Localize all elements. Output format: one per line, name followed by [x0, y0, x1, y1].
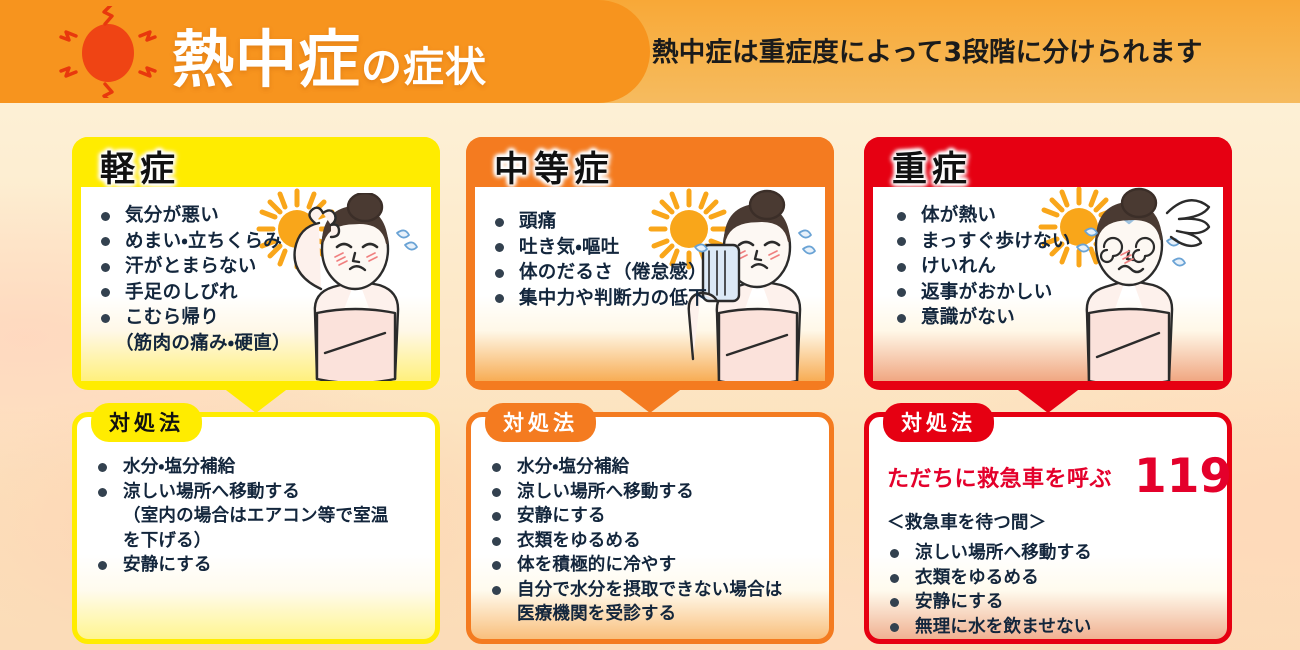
severity-title-severe: 重症 — [892, 141, 972, 192]
bullet-dot — [897, 288, 906, 297]
bullet-dot — [492, 512, 501, 521]
page-title-main: 熱中症 — [172, 23, 361, 96]
bullet-dot — [890, 549, 899, 558]
bullet-dot — [492, 537, 501, 546]
symptom-text: 体が熱い — [921, 205, 996, 226]
remedy-list-mild: 水分・塩分補給 涼しい場所へ移動する （室内の場合はエアコン等で室温 を下げる）… — [95, 455, 427, 578]
remedy-list-moderate: 水分・塩分補給 涼しい場所へ移動する 安静にする 衣類をゆるめる 体を積極的に冷… — [489, 455, 821, 627]
list-item: 涼しい場所へ移動する — [887, 541, 1219, 566]
symptom-text: こむら帰り — [125, 307, 219, 328]
list-item: 安静にする — [489, 504, 821, 529]
bullet-dot — [492, 488, 501, 497]
list-item: 衣類をゆるめる — [489, 529, 821, 554]
bullet-dot — [492, 463, 501, 472]
list-item: 安静にする — [95, 553, 427, 578]
list-item: 手足のしびれ — [99, 280, 291, 306]
severity-title-moderate: 中等症 — [494, 141, 614, 192]
emergency-call-text: ただちに救急車を呼ぶ — [887, 461, 1112, 493]
list-item: （筋肉の痛み・硬直） — [99, 331, 291, 357]
list-item: 気分が悪い — [99, 203, 291, 229]
bullet-dot — [98, 463, 107, 472]
symptom-text: 吐き気・嘔吐 — [519, 237, 620, 258]
bullet-dot — [890, 574, 899, 583]
symptom-text: 返事がおかしい — [921, 282, 1053, 303]
symptom-card-moderate: 中等症 — [466, 137, 834, 390]
remedy-label-moderate: 対処法 — [485, 403, 596, 442]
bullet-dot — [495, 269, 504, 278]
connector-arrow-icon — [222, 387, 290, 413]
connector-arrow-icon — [616, 387, 684, 413]
list-item: 水分・塩分補給 — [489, 455, 821, 480]
list-item: 頭痛 — [493, 209, 707, 235]
remedy-text: 体を積極的に冷やす — [517, 555, 676, 575]
list-item: 集中力や判断力の低下 — [493, 286, 707, 312]
list-item: 汗がとまらない — [99, 254, 291, 280]
remedy-text: 涼しい場所へ移動する — [517, 482, 694, 502]
hot-sun-icon — [48, 6, 168, 98]
list-item: けいれん — [895, 254, 1071, 280]
remedy-list-severe: 涼しい場所へ移動する 衣類をゆるめる 安静にする 無理に水を飲ませない — [887, 541, 1219, 639]
remedy-text: 無理に水を飲ませない — [915, 617, 1091, 637]
list-item: 自分で水分を摂取できない場合は — [489, 578, 821, 603]
emergency-number: 119 — [1134, 453, 1232, 500]
page-title-sub: の症状 — [361, 43, 487, 91]
symptom-text: 体のだるさ（倦怠感） — [519, 262, 707, 283]
list-item: （室内の場合はエアコン等で室温 — [95, 504, 427, 529]
column-mild: 軽症 — [72, 137, 440, 644]
list-item: こむら帰り — [99, 305, 291, 331]
remedy-text: 涼しい場所へ移動する — [915, 543, 1092, 563]
list-item: めまい・立ちくらみ — [99, 229, 291, 255]
header-subtitle: 熱中症は重症度によって3段階に分けられます — [652, 30, 1203, 69]
remedy-text: 涼しい場所へ移動する — [123, 482, 300, 502]
severity-title-mild: 軽症 — [100, 141, 180, 192]
symptom-text: 意識がない — [921, 307, 1015, 328]
bullet-dot — [98, 561, 107, 570]
remedy-text: 水分・塩分補給 — [123, 457, 235, 477]
list-item: 体のだるさ（倦怠感） — [493, 260, 707, 286]
remedy-text: 安静にする — [517, 506, 606, 526]
list-item: 医療機関を受診する — [489, 602, 821, 627]
remedy-text: 自分で水分を摂取できない場合は — [517, 580, 783, 600]
bullet-dot — [101, 212, 110, 221]
column-moderate: 中等症 — [466, 137, 834, 644]
symptom-panel: 気分が悪い めまい・立ちくらみ 汗がとまらない 手足のしびれ こむら帰り （筋肉… — [81, 187, 431, 381]
remedy-text: 水分・塩分補給 — [517, 457, 629, 477]
bullet-dot — [495, 294, 504, 303]
symptom-list-mild: 気分が悪い めまい・立ちくらみ 汗がとまらない 手足のしびれ こむら帰り （筋肉… — [99, 203, 291, 356]
list-item: 返事がおかしい — [895, 280, 1071, 306]
symptom-panel: 体が熱い まっすぐ歩けない けいれん 返事がおかしい 意識がない — [873, 187, 1223, 381]
list-item: 体が熱い — [895, 203, 1071, 229]
symptom-text: 気分が悪い — [125, 205, 219, 226]
symptom-text: まっすぐ歩けない — [921, 231, 1071, 252]
remedy-text: 安静にする — [123, 555, 212, 575]
emergency-subheading: ＜救急車を待つ間＞ — [887, 509, 1046, 534]
emergency-heading: ただちに救急車を呼ぶ 119 — [887, 453, 1217, 500]
bullet-dot — [492, 586, 501, 595]
symptom-text: 頭痛 — [519, 211, 557, 232]
bullet-dot — [897, 237, 906, 246]
remedy-text: 安静にする — [915, 592, 1004, 612]
symptom-text: 集中力や判断力の低下 — [519, 288, 707, 309]
bullet-dot — [495, 218, 504, 227]
list-item: 吐き気・嘔吐 — [493, 235, 707, 261]
bullet-dot — [890, 623, 899, 632]
symptom-text: 汗がとまらない — [125, 256, 257, 277]
remedy-card-mild: 対処法 水分・塩分補給 涼しい場所へ移動する （室内の場合はエアコン等で室温 を… — [72, 412, 440, 644]
bullet-dot — [495, 243, 504, 252]
remedy-text: （室内の場合はエアコン等で室温 — [123, 506, 389, 526]
remedy-label-mild: 対処法 — [91, 403, 202, 442]
bullet-dot — [897, 212, 906, 221]
header-bar: 熱中症の症状 熱中症は重症度によって3段階に分けられます — [0, 0, 1300, 103]
page-title: 熱中症の症状 — [172, 9, 487, 99]
bullet-dot — [897, 263, 906, 272]
infographic-page: 熱中症の症状 熱中症は重症度によって3段階に分けられます 軽症 — [0, 0, 1300, 650]
symptom-list-moderate: 頭痛 吐き気・嘔吐 体のだるさ（倦怠感） 集中力や判断力の低下 — [493, 209, 707, 311]
list-item: まっすぐ歩けない — [895, 229, 1071, 255]
list-item: 安静にする — [887, 590, 1219, 615]
list-item: 水分・塩分補給 — [95, 455, 427, 480]
bullet-dot — [897, 314, 906, 323]
list-item: を下げる） — [95, 529, 427, 554]
remedy-text: 医療機関を受診する — [517, 604, 676, 624]
symptom-text: けいれん — [921, 256, 996, 277]
symptom-text: めまい・立ちくらみ — [125, 231, 282, 252]
remedy-label-severe: 対処法 — [883, 403, 994, 442]
list-item: 衣類をゆるめる — [887, 566, 1219, 591]
column-severe: 重症 — [864, 137, 1232, 644]
symptom-text: （筋肉の痛み・硬直） — [115, 333, 291, 354]
bullet-dot — [101, 263, 110, 272]
list-item: 無理に水を飲ませない — [887, 615, 1219, 640]
bullet-dot — [101, 314, 110, 323]
list-item: 体を積極的に冷やす — [489, 553, 821, 578]
symptom-card-severe: 重症 — [864, 137, 1232, 390]
symptom-list-severe: 体が熱い まっすぐ歩けない けいれん 返事がおかしい 意識がない — [895, 203, 1071, 331]
remedy-card-moderate: 対処法 水分・塩分補給 涼しい場所へ移動する 安静にする 衣類をゆるめる 体を積… — [466, 412, 834, 644]
bullet-dot — [101, 288, 110, 297]
remedy-text: 衣類をゆるめる — [517, 531, 641, 551]
symptom-text: 手足のしびれ — [125, 282, 238, 303]
person-unconscious-icon — [1055, 187, 1223, 381]
list-item: 意識がない — [895, 305, 1071, 331]
remedy-card-severe: 対処法 ただちに救急車を呼ぶ 119 ＜救急車を待つ間＞ 涼しい場所へ移動する … — [864, 412, 1232, 644]
symptom-card-mild: 軽症 — [72, 137, 440, 390]
list-item: 涼しい場所へ移動する — [95, 480, 427, 505]
bullet-dot — [492, 561, 501, 570]
list-item: 涼しい場所へ移動する — [489, 480, 821, 505]
remedy-text: を下げる） — [123, 531, 212, 551]
connector-arrow-icon — [1014, 387, 1082, 413]
bullet-dot — [98, 488, 107, 497]
bullet-dot — [101, 237, 110, 246]
bullet-dot — [890, 598, 899, 607]
symptom-panel: 頭痛 吐き気・嘔吐 体のだるさ（倦怠感） 集中力や判断力の低下 — [475, 187, 825, 381]
remedy-text: 衣類をゆるめる — [915, 568, 1039, 588]
